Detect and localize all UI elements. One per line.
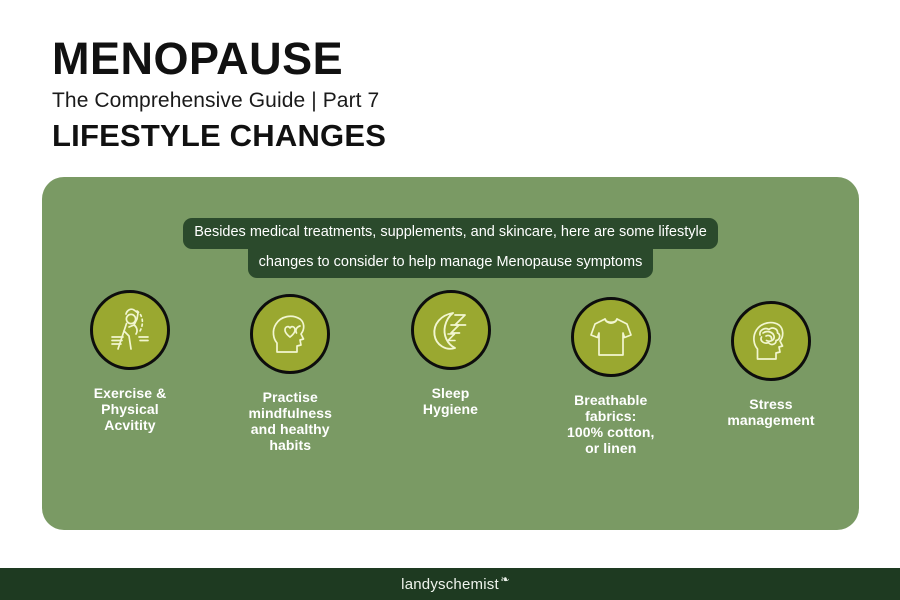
lifestyle-item-label: SleepHygiene xyxy=(423,385,478,417)
content-card: Besides medical treatments, supplements,… xyxy=(42,177,859,530)
icon-circle-mindfulness xyxy=(250,294,330,374)
page-section-title: LIFESTYLE CHANGES xyxy=(52,118,386,154)
lifestyle-item-exercise: Exercise &PhysicalAcvitity xyxy=(64,290,196,433)
page-subtitle: The Comprehensive Guide | Part 7 xyxy=(52,89,386,113)
footer-bar: landyschemist ❧ xyxy=(0,568,900,600)
tshirt-icon xyxy=(585,311,637,363)
lifestyle-item-label: Stressmanagement xyxy=(727,396,814,428)
lifestyle-item-label: Practisemindfulnessand healthyhabits xyxy=(248,389,332,453)
leaf-icon: ❧ xyxy=(500,573,509,586)
page-title: MENOPAUSE xyxy=(52,36,386,81)
crescent-moon-zzz-icon xyxy=(425,304,477,356)
callout-banner-line-2: changes to consider to help manage Menop… xyxy=(248,248,654,279)
callout-banner-line-1: Besides medical treatments, supplements,… xyxy=(183,218,718,249)
head-with-heart-icon xyxy=(264,308,316,360)
icon-circle-fabrics xyxy=(571,297,651,377)
icon-circle-stress xyxy=(731,301,811,381)
lifestyle-item-fabrics: Breathablefabrics:100% cotton,or linen xyxy=(545,297,677,456)
lifestyle-item-label: Exercise &PhysicalAcvitity xyxy=(94,385,167,433)
brand-logo: landyschemist ❧ xyxy=(401,576,499,593)
lifestyle-item-stress: Stressmanagement xyxy=(705,301,837,428)
head-with-scribble-icon xyxy=(745,315,797,367)
lifestyle-item-label: Breathablefabrics:100% cotton,or linen xyxy=(567,392,655,456)
stretching-exercise-icon xyxy=(104,304,156,356)
callout-banner: Besides medical treatments, supplements,… xyxy=(42,218,859,278)
icon-circle-sleep xyxy=(411,290,491,370)
lifestyle-item-sleep: SleepHygiene xyxy=(385,290,517,417)
header: MENOPAUSE The Comprehensive Guide | Part… xyxy=(52,36,386,154)
lifestyle-items-row: Exercise &PhysicalAcvitity Practisemindf… xyxy=(64,290,837,456)
brand-name: landyschemist xyxy=(401,576,499,593)
lifestyle-item-mindfulness: Practisemindfulnessand healthyhabits xyxy=(224,294,356,453)
icon-circle-exercise xyxy=(90,290,170,370)
